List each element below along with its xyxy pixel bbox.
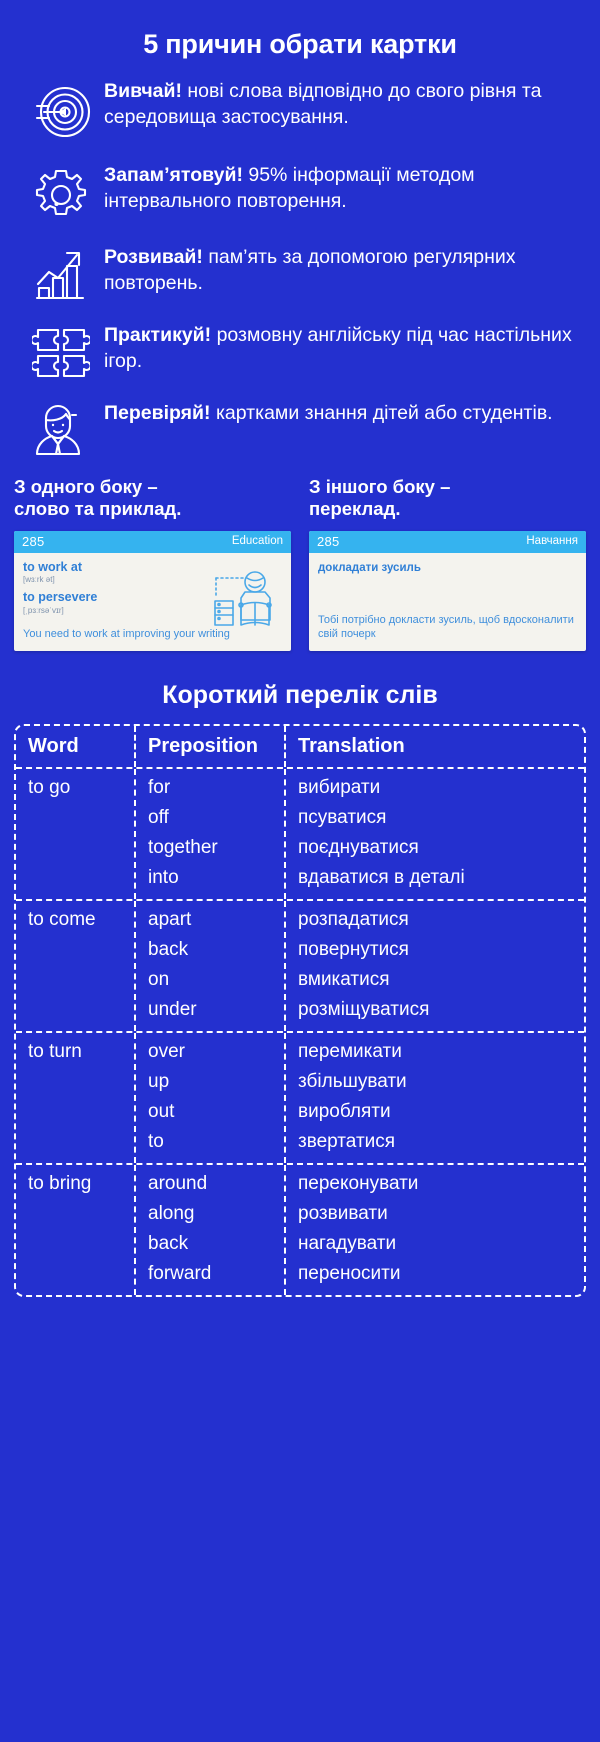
puzzle-icon [18,320,104,382]
translation: виробляти [298,1097,584,1127]
cell-word: to bring [16,1165,136,1295]
list-item: Розвивай! пам’ять за допомогою регулярни… [18,242,586,304]
flashcard-sentence: Тобі потрібно докласти зусиль, щоб вдоск… [318,614,577,642]
preposition: over [148,1037,284,1067]
target-icon [18,76,104,144]
gear-icon [18,160,104,226]
list-item: Перевіряй! картками знання дітей або сту… [18,398,586,460]
flashcard-number: 285 [22,534,45,549]
preposition: on [148,965,284,995]
cell-translations: розпадатися повернутися вмикатися розміщ… [286,901,584,1031]
reason-text: Практикуй! розмовну англійську під час н… [104,320,586,375]
preposition: around [148,1169,284,1199]
translation: нагадувати [298,1229,584,1259]
reason-text: Запам’ятовуй! 95% інформації методом інт… [104,160,586,215]
cell-translations: переконувати розвивати нагадувати перено… [286,1165,584,1295]
list-item: Вивчай! нові слова відповідно до свого р… [18,76,586,144]
reason-lead: Практикуй! [104,324,211,346]
table-row: to turn over up out to перемикати збільш… [16,1031,584,1163]
translation: розпадатися [298,905,584,935]
translation: звертатися [298,1127,584,1157]
list-item: Практикуй! розмовну англійську під час н… [18,320,586,382]
preposition: off [148,803,284,833]
translation: вибирати [298,773,584,803]
flashcard-front-header: 285 Education [14,531,291,553]
preposition: apart [148,905,284,935]
column-header-translation: Translation [286,726,584,767]
reason-rest: картками знання дітей або студентів. [211,402,553,424]
reason-lead: Перевіряй! [104,402,211,424]
flashcard-front-column: З одного боку – слово та приклад. 285 Ed… [14,476,291,651]
list-item: Запам’ятовуй! 95% інформації методом інт… [18,160,586,226]
table-header-row: Word Preposition Translation [16,726,584,767]
page-title: 5 причин обрати картки [0,0,600,60]
preposition: to [148,1127,284,1157]
word-list-title: Короткий перелік слів [0,681,600,710]
preposition: into [148,863,284,893]
preposition: along [148,1199,284,1229]
reason-text: Розвивай! пам’ять за допомогою регулярни… [104,242,586,297]
cell-prepositions: apart back on under [136,901,286,1031]
translation: вдаватися в деталі [298,863,584,893]
cell-word: to go [16,769,136,899]
translation: збільшувати [298,1067,584,1097]
preposition: back [148,935,284,965]
reason-text: Перевіряй! картками знання дітей або сту… [104,398,553,427]
translation: розвивати [298,1199,584,1229]
column-header-word: Word [16,726,136,767]
translation: вмикатися [298,965,584,995]
translation: розміщуватися [298,995,584,1025]
flashcard-front[interactable]: 285 Education to work at [wɜːrk ət] to p… [14,531,291,651]
poster-page: 5 причин обрати картки Вивчай! нові слов… [0,0,600,1742]
cell-translations: вибирати псуватися поєднуватися вдаватис… [286,769,584,899]
table-row: to go for off together into вибирати псу… [16,767,584,899]
preposition: together [148,833,284,863]
reason-lead: Розвивай! [104,246,203,268]
preposition: forward [148,1259,284,1289]
preposition: under [148,995,284,1025]
flashcard-back-column: З іншого боку – переклад. 285 Навчання д… [309,476,586,651]
growth-chart-icon [18,242,104,304]
student-reading-icon [211,569,285,640]
flashcard-number: 285 [317,534,340,549]
preposition: out [148,1097,284,1127]
translation: переносити [298,1259,584,1289]
flashcard-front-caption: З одного боку – слово та приклад. [14,476,291,521]
translation: переконувати [298,1169,584,1199]
flashcards-section: З одного боку – слово та приклад. 285 Ed… [0,476,600,651]
reason-lead: Запам’ятовуй! [104,164,243,186]
cell-translations: перемикати збільшувати виробляти звертат… [286,1033,584,1163]
preposition: for [148,773,284,803]
cell-word: to come [16,901,136,1031]
preposition: back [148,1229,284,1259]
reason-lead: Вивчай! [104,80,182,102]
flashcard-back-body: докладати зусиль Тобі потрібно докласти … [309,553,586,651]
flashcard-back-caption: З іншого боку – переклад. [309,476,586,521]
cell-prepositions: for off together into [136,769,286,899]
flashcard-category: Education [232,535,283,547]
word-list-table: Word Preposition Translation to go for o… [14,724,586,1297]
translation: повернутися [298,935,584,965]
table-row: to come apart back on under розпадатися … [16,899,584,1031]
translation: перемикати [298,1037,584,1067]
reasons-list: Вивчай! нові слова відповідно до свого р… [0,76,600,460]
cell-prepositions: around along back forward [136,1165,286,1295]
flashcard-category: Навчання [526,535,578,547]
cell-word: to turn [16,1033,136,1163]
reason-text: Вивчай! нові слова відповідно до свого р… [104,76,586,131]
column-header-preposition: Preposition [136,726,286,767]
student-icon [18,398,104,460]
translation: псуватися [298,803,584,833]
flashcard-translation: докладати зусиль [318,562,577,576]
preposition: up [148,1067,284,1097]
table-row: to bring around along back forward перек… [16,1163,584,1295]
translation: поєднуватися [298,833,584,863]
flashcard-back[interactable]: 285 Навчання докладати зусиль Тобі потрі… [309,531,586,651]
cell-prepositions: over up out to [136,1033,286,1163]
flashcard-back-header: 285 Навчання [309,531,586,553]
flashcard-front-body: to work at [wɜːrk ət] to persevere [ˌpɜː… [14,553,291,651]
